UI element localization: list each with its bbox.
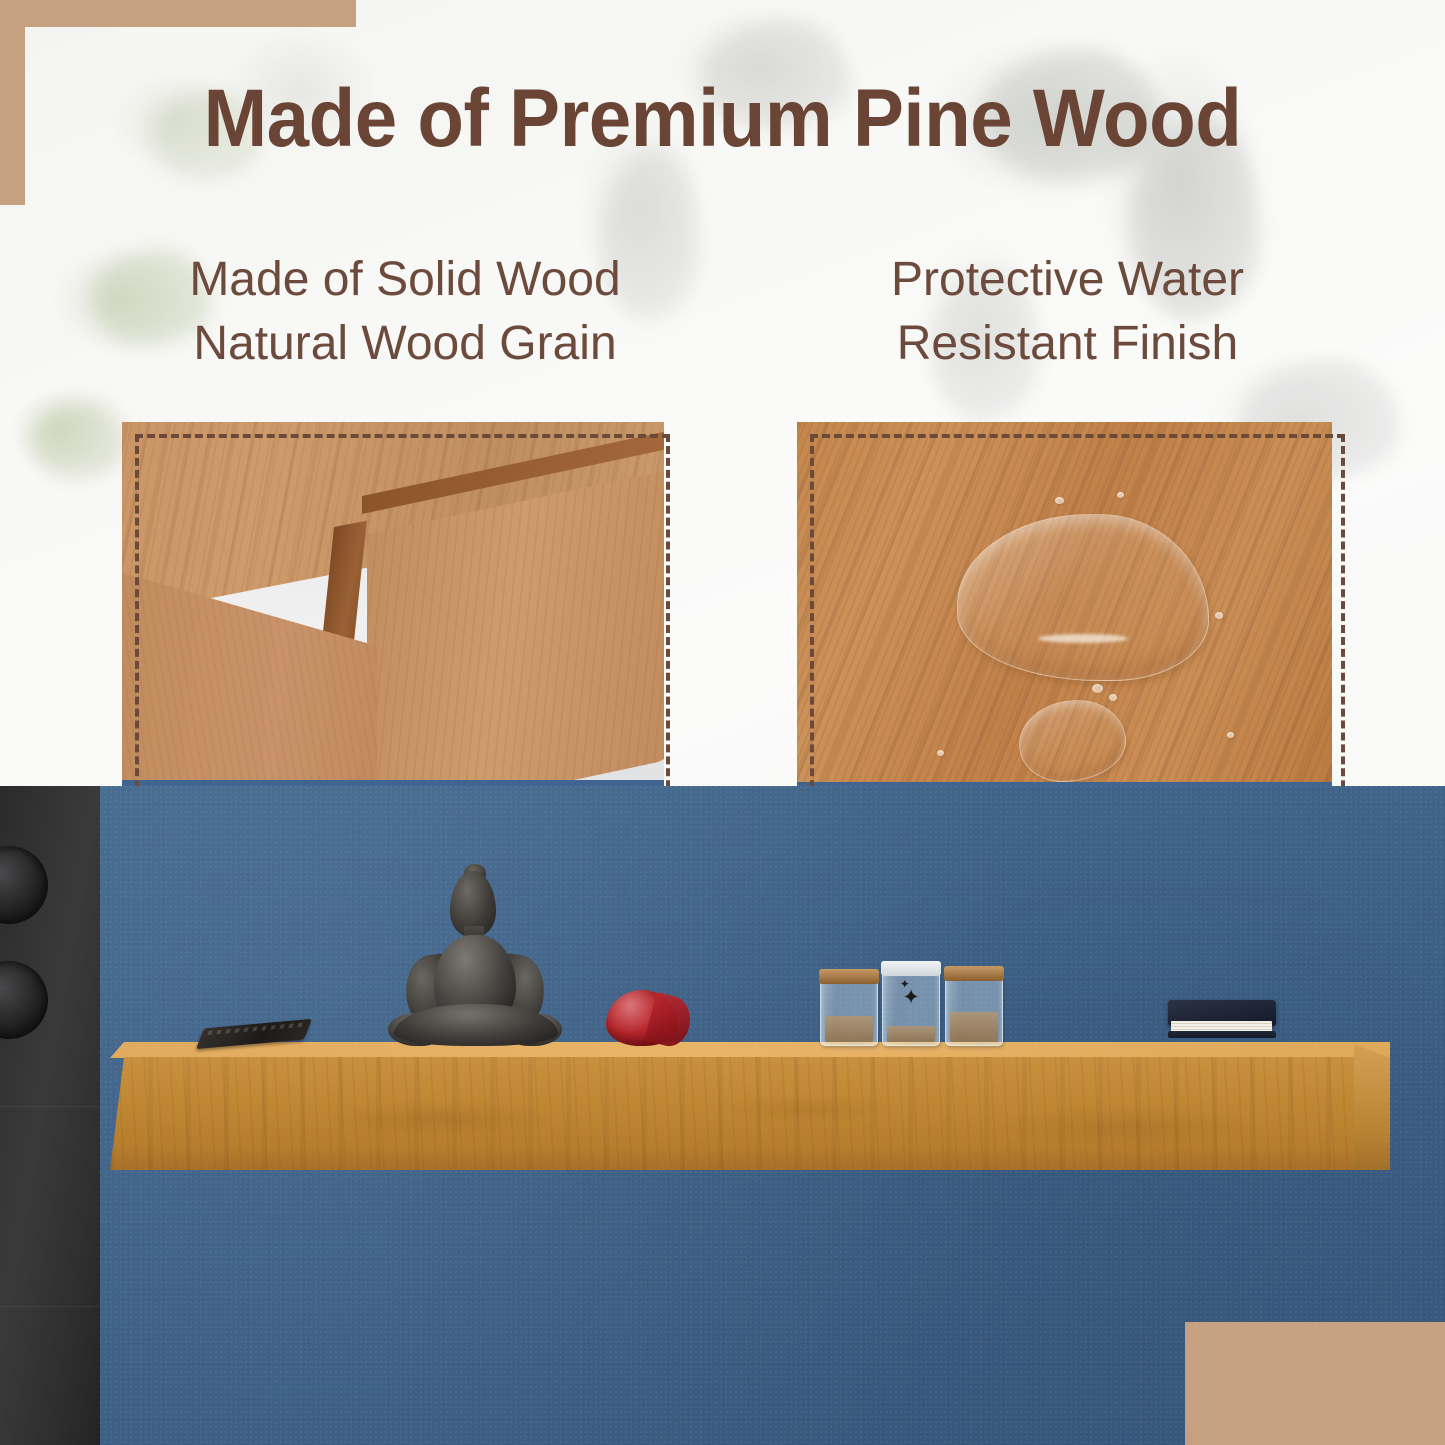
- feature-heading-line-2: Resistant Finish: [795, 312, 1340, 376]
- jar-contents: [825, 1016, 873, 1042]
- feature-photo-water-resistant: [797, 422, 1332, 806]
- corner-accent-bottom-right: [1185, 1322, 1445, 1445]
- feature-heading-line-1: Protective Water: [795, 248, 1340, 312]
- star-ornament-icon: ✦: [900, 978, 910, 990]
- book-spine-base: [1168, 1031, 1276, 1038]
- feature-heading-water-resistant: Protective Water Resistant Finish: [795, 248, 1340, 376]
- buddha-statue: [388, 871, 564, 1046]
- glass-jar-group: ✦ ✦: [820, 961, 1025, 1046]
- page-title: Made of Premium Pine Wood: [51, 72, 1395, 166]
- red-glass-ornament: [606, 990, 692, 1046]
- feature-heading-line-2: Natural Wood Grain: [110, 312, 700, 376]
- water-microdroplet-icon: [1117, 492, 1124, 498]
- water-microdroplet-icon: [1215, 612, 1223, 619]
- feature-photo-solid-wood: [122, 422, 664, 806]
- speaker-driver-icon: [0, 846, 48, 924]
- jar-contents: [950, 1012, 998, 1042]
- shelf-top-surface: [110, 1042, 1390, 1058]
- speaker-tower: [0, 786, 100, 1445]
- water-microdroplet-icon: [1092, 684, 1103, 693]
- water-microdroplet-icon: [1227, 732, 1234, 738]
- speaker-seam: [0, 1306, 100, 1307]
- feature-heading-solid-wood: Made of Solid Wood Natural Wood Grain: [110, 248, 700, 376]
- product-marketing-image: Made of Premium Pine Wood Made of Solid …: [0, 0, 1445, 1445]
- shelf-right-end-cap: [1354, 1044, 1390, 1170]
- corner-accent-vertical: [0, 0, 25, 205]
- feature-heading-line-1: Made of Solid Wood: [110, 248, 700, 312]
- water-microdroplet-icon: [937, 750, 944, 756]
- cork-lid: [944, 966, 1004, 981]
- water-microdroplet-icon: [1055, 497, 1064, 504]
- corner-accent-horizontal: [0, 0, 356, 27]
- glass-jar: ✦ ✦: [882, 964, 940, 1046]
- glass-jar: [945, 969, 1003, 1046]
- shelf-front-face: [110, 1057, 1390, 1170]
- jar-contents: [887, 1026, 935, 1042]
- water-microdroplet-icon: [1109, 694, 1117, 701]
- speaker-driver-icon: [0, 961, 48, 1039]
- hardcover-book: [1168, 1000, 1276, 1038]
- header-panel: Made of Premium Pine Wood Made of Solid …: [0, 0, 1445, 786]
- leaf-shadow-icon: [30, 400, 125, 478]
- cork-lid: [881, 961, 941, 976]
- speaker-seam: [0, 1106, 100, 1107]
- glass-jar: [820, 972, 878, 1046]
- floating-wood-shelf: [110, 1042, 1390, 1170]
- cork-lid: [819, 969, 879, 984]
